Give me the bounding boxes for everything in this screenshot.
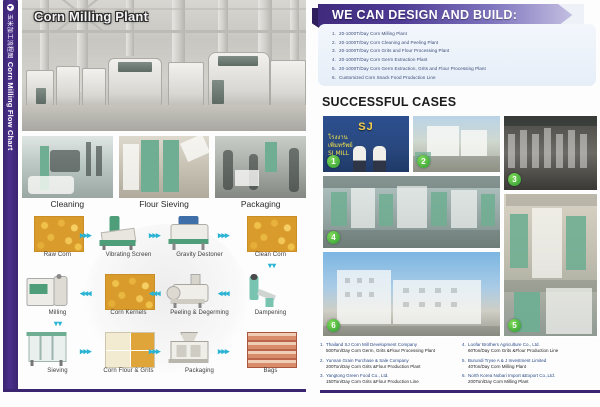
case-badge-3: 3 (508, 173, 521, 186)
process-photo-packaging (215, 136, 306, 198)
flow-arrow-right: ▸▸▸ (218, 346, 229, 357)
capability-text: 20-1000T/Day Corn Germ Extraction, Grits… (339, 66, 486, 71)
flow-label: Bags (235, 368, 306, 374)
case-photo-3: 3 (503, 115, 598, 191)
capability-number: 3. (332, 47, 339, 56)
capability-item: 2.20-1000T/Day Corn Cleaning and Peeling… (332, 39, 590, 48)
right-column: WE CAN DESIGN AND BUILD: 1.20-1000T/Day … (312, 0, 600, 407)
flow-arrow-left: ◂◂◂ (149, 288, 160, 299)
left-column: Corn Milling Plant (22, 0, 306, 391)
photo-caption-cleaning: Cleaning (22, 199, 113, 213)
caption-subtitle: 200Ton/Day Corn Milling Plant (462, 379, 600, 385)
play-circle-icon (7, 4, 14, 11)
flow-label: Milling (22, 310, 93, 316)
sidebar-content: 玉米加工流程图 Corn Milling Flow Chart (3, 0, 18, 391)
banner-swallowtail (558, 4, 584, 26)
capabilities-list: 1.20-1000T/Day Corn Milling Plant 2.20-1… (332, 30, 590, 82)
process-photo-cleaning (22, 136, 113, 198)
caption-subtitle: 500Ton/Day Corn Germ, Grits &Flour Proce… (320, 348, 458, 354)
case-captions-right: 4.Loofar Brothers Agriculture Co., Ltd. … (462, 342, 600, 389)
case-caption-2: 2.Yunnan Grain Purchase & Sale Company 2… (320, 358, 458, 370)
case-badge-2: 2 (417, 155, 430, 168)
process-photo-flour-sieving (119, 136, 210, 198)
case-badge-4: 4 (327, 231, 340, 244)
capability-item: 3.20-1000T/Day Corn Grits and Flour Proc… (332, 47, 590, 56)
capability-number: 2. (332, 39, 339, 48)
case-caption-4: 4.Loofar Brothers Agriculture Co., Ltd. … (462, 342, 600, 354)
flow-label: Peeling & Degerming (164, 310, 235, 316)
capability-number: 5. (332, 65, 339, 74)
flow-arrow-down: ▾▾ (268, 264, 276, 268)
flow-arrow-right: ▸▸▸ (80, 346, 91, 357)
bags-texture-icon (247, 332, 295, 366)
capability-number: 4. (332, 56, 339, 65)
brochure-page: 玉米加工流程图 Corn Milling Flow Chart (0, 0, 600, 407)
flow-label: Corn Flour & Grits (93, 368, 164, 374)
left-bottom-rule (3, 389, 306, 392)
capability-number: 1. (332, 30, 339, 39)
capability-item: 6.Customized Corn Snack Food Production … (332, 74, 590, 83)
case-photo-1: SJ โรงงานเพิ่มทรัพย์SJ MILL 1 (322, 115, 410, 173)
flow-row-3: Sieving Corn Flour & Grits Packaging (22, 332, 306, 380)
flow-arrow-right: ▸▸▸ (80, 230, 91, 241)
capabilities-panel: 1.20-1000T/Day Corn Milling Plant 2.20-1… (318, 24, 596, 86)
capability-item: 4.20-1000T/Day Corn Germ Extraction Plan… (332, 56, 590, 65)
flow-step-clean-corn: Clean Corn (235, 216, 306, 264)
case-caption-3: 3.Yangtong Green Food Co., Ltd. 150Ton/D… (320, 373, 458, 385)
case-caption-1: 1.Thailand SJ Corn Mill Development Comp… (320, 342, 458, 354)
flow-arrow-right: ▸▸▸ (149, 346, 160, 357)
sidebar-english-label: Corn Milling Flow Chart (6, 62, 15, 151)
photo-caption-flour-sieving: Flour Sieving (119, 199, 210, 213)
flour-grits-texture-icon (105, 332, 153, 366)
corn-texture-icon (105, 274, 153, 308)
flow-step-bags: Bags (235, 332, 306, 380)
capability-text: 20-1000T/Day Corn Grits and Flour Proces… (339, 48, 449, 53)
caption-subtitle: 40Ton/Day Corn Milling Plant (462, 364, 600, 370)
capability-item: 5.20-1000T/Day Corn Germ Extraction, Gri… (332, 65, 590, 74)
case-photo-4: 4 (322, 175, 501, 249)
capability-text: 20-1000T/Day Corn Cleaning and Peeling P… (339, 40, 438, 45)
corn-texture-icon (247, 216, 295, 250)
right-bottom-rule (320, 390, 600, 393)
corn-texture-icon (34, 216, 82, 250)
case-captions: 1.Thailand SJ Corn Mill Development Comp… (320, 342, 600, 388)
flow-label: Raw Corn (22, 252, 93, 258)
process-photo-row (22, 136, 306, 198)
flow-label: Packaging (164, 368, 235, 374)
flow-label: Gravity Destoner (164, 252, 235, 258)
flow-arrow-left: ◂◂◂ (218, 288, 229, 299)
successful-cases-heading: SUCCESSFUL CASES (322, 95, 456, 109)
flow-label: Clean Corn (235, 252, 306, 258)
hero-title: Corn Milling Plant (34, 9, 148, 24)
sj-logo-text: SJ (358, 121, 373, 133)
caption-title: North Korea Nobari Import &Export Co.,Lt… (468, 373, 555, 378)
case-badge-6: 6 (327, 319, 340, 332)
banner-title: WE CAN DESIGN AND BUILD: (332, 6, 517, 24)
caption-subtitle: 200Ton/Day Corn Grits &Flour Production … (320, 364, 458, 370)
case-badge-5: 5 (508, 319, 521, 332)
case-caption-5: 5.Burundi Tryse A & J Investment Limited… (462, 358, 600, 370)
flow-label: Corn Kernels (93, 310, 164, 316)
flow-label: Vibrating Screen (93, 252, 164, 258)
capability-text: Customized Corn Snack Food Production Li… (339, 75, 436, 80)
photo-caption-packaging: Packaging (215, 199, 306, 213)
hero-photo-corn-milling-plant: Corn Milling Plant (22, 0, 306, 131)
caption-title: Loofar Brothers Agriculture Co., Ltd. (468, 342, 540, 347)
sidebar-chinese-label: 玉米加工流程图 (6, 14, 15, 59)
case-photo-grid: SJ โรงงานเพิ่มทรัพย์SJ MILL 1 2 (322, 115, 598, 337)
caption-title: Yunnan Grain Purchase & Sale Company (326, 358, 409, 363)
process-photo-captions: Cleaning Flour Sieving Packaging (22, 199, 306, 213)
case-badge-1: 1 (327, 155, 340, 168)
flow-row-1: Raw Corn Vibrating Screen (22, 216, 306, 264)
flow-arrow-right: ▸▸▸ (149, 230, 160, 241)
case-caption-6: 6.North Korea Nobari Import &Export Co.,… (462, 373, 600, 385)
case-photo-6: 6 (322, 251, 501, 337)
caption-title: Burundi Tryse A & J Investment Limited (468, 358, 546, 363)
caption-title: Thailand SJ Corn Mill Development Compan… (326, 342, 417, 347)
capability-number: 6. (332, 74, 339, 83)
case-captions-left: 1.Thailand SJ Corn Mill Development Comp… (320, 342, 458, 389)
capability-item: 1.20-1000T/Day Corn Milling Plant (332, 30, 590, 39)
flow-arrow-right: ▸▸▸ (218, 230, 229, 241)
flow-label: Sieving (22, 368, 93, 374)
caption-subtitle: 60Ton/Day Corn Grits &Flour Production L… (462, 348, 600, 354)
case-photo-5: 5 (503, 193, 598, 337)
capability-text: 20-1000T/Day Corn Germ Extraction Plant (339, 57, 428, 62)
flow-step-dampening: Dampening (235, 274, 306, 322)
vertical-sidebar-tab: 玉米加工流程图 Corn Milling Flow Chart (3, 0, 18, 391)
flow-label: Dampening (235, 310, 306, 316)
flow-arrow-down: ▾▾ (54, 322, 62, 326)
caption-title: Yangtong Green Food Co., Ltd. (326, 373, 388, 378)
caption-subtitle: 150Ton/Day Corn Grits &Flour Production … (320, 379, 458, 385)
flow-row-2: Milling Corn Kernels Peeling & De (22, 274, 306, 322)
corn-milling-flow-chart: Raw Corn Vibrating Screen (22, 216, 306, 386)
flow-arrow-left: ◂◂◂ (80, 288, 91, 299)
case-photo-2: 2 (412, 115, 501, 173)
capability-text: 20-1000T/Day Corn Milling Plant (339, 31, 407, 36)
